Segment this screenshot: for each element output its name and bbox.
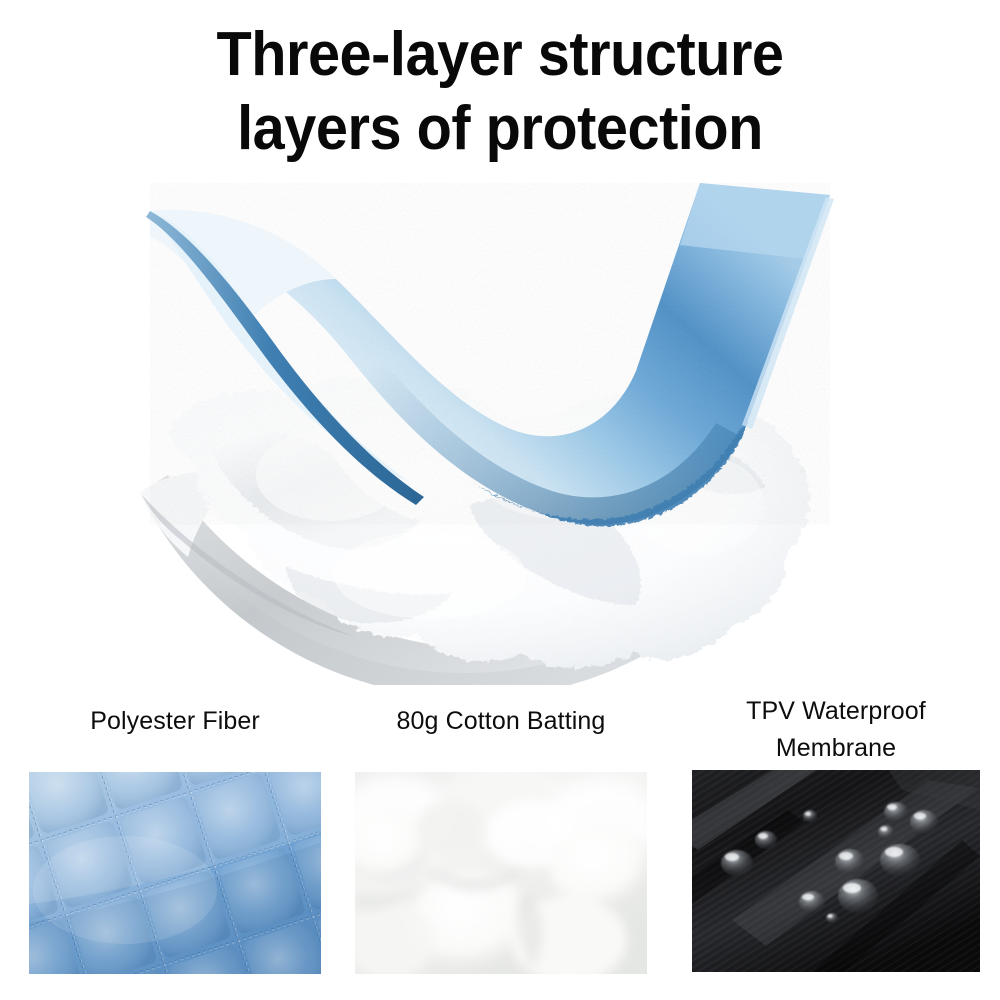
swatch-tpv-membrane: TPV Waterproof Membrane — [692, 690, 980, 764]
title-line-2: layers of protection — [35, 92, 965, 166]
swatch-label-cotton-batting: 80g Cotton Batting — [355, 690, 647, 737]
page-title: Three-layer structure layers of protecti… — [0, 18, 1000, 166]
swatch-label-tpv-membrane-line2: Membrane — [692, 727, 980, 764]
white-cotton-batting-photo — [355, 772, 647, 974]
material-swatch-row: Polyester Fiber — [0, 690, 1000, 990]
swatch-cotton-batting: 80g Cotton Batting — [355, 690, 647, 737]
swatch-polyester-fiber: Polyester Fiber — [29, 690, 321, 737]
swatch-label-polyester-fiber: Polyester Fiber — [29, 690, 321, 737]
infographic-page: Three-layer structure layers of protecti… — [0, 0, 1000, 1000]
exploded-layer-illustration — [0, 175, 1000, 685]
blue-quilted-fabric-photo — [29, 772, 321, 974]
swatch-label-tpv-membrane-line1: TPV Waterproof — [692, 690, 980, 727]
black-waterproof-fabric-droplets-photo — [692, 770, 980, 972]
title-line-1: Three-layer structure — [35, 18, 965, 92]
